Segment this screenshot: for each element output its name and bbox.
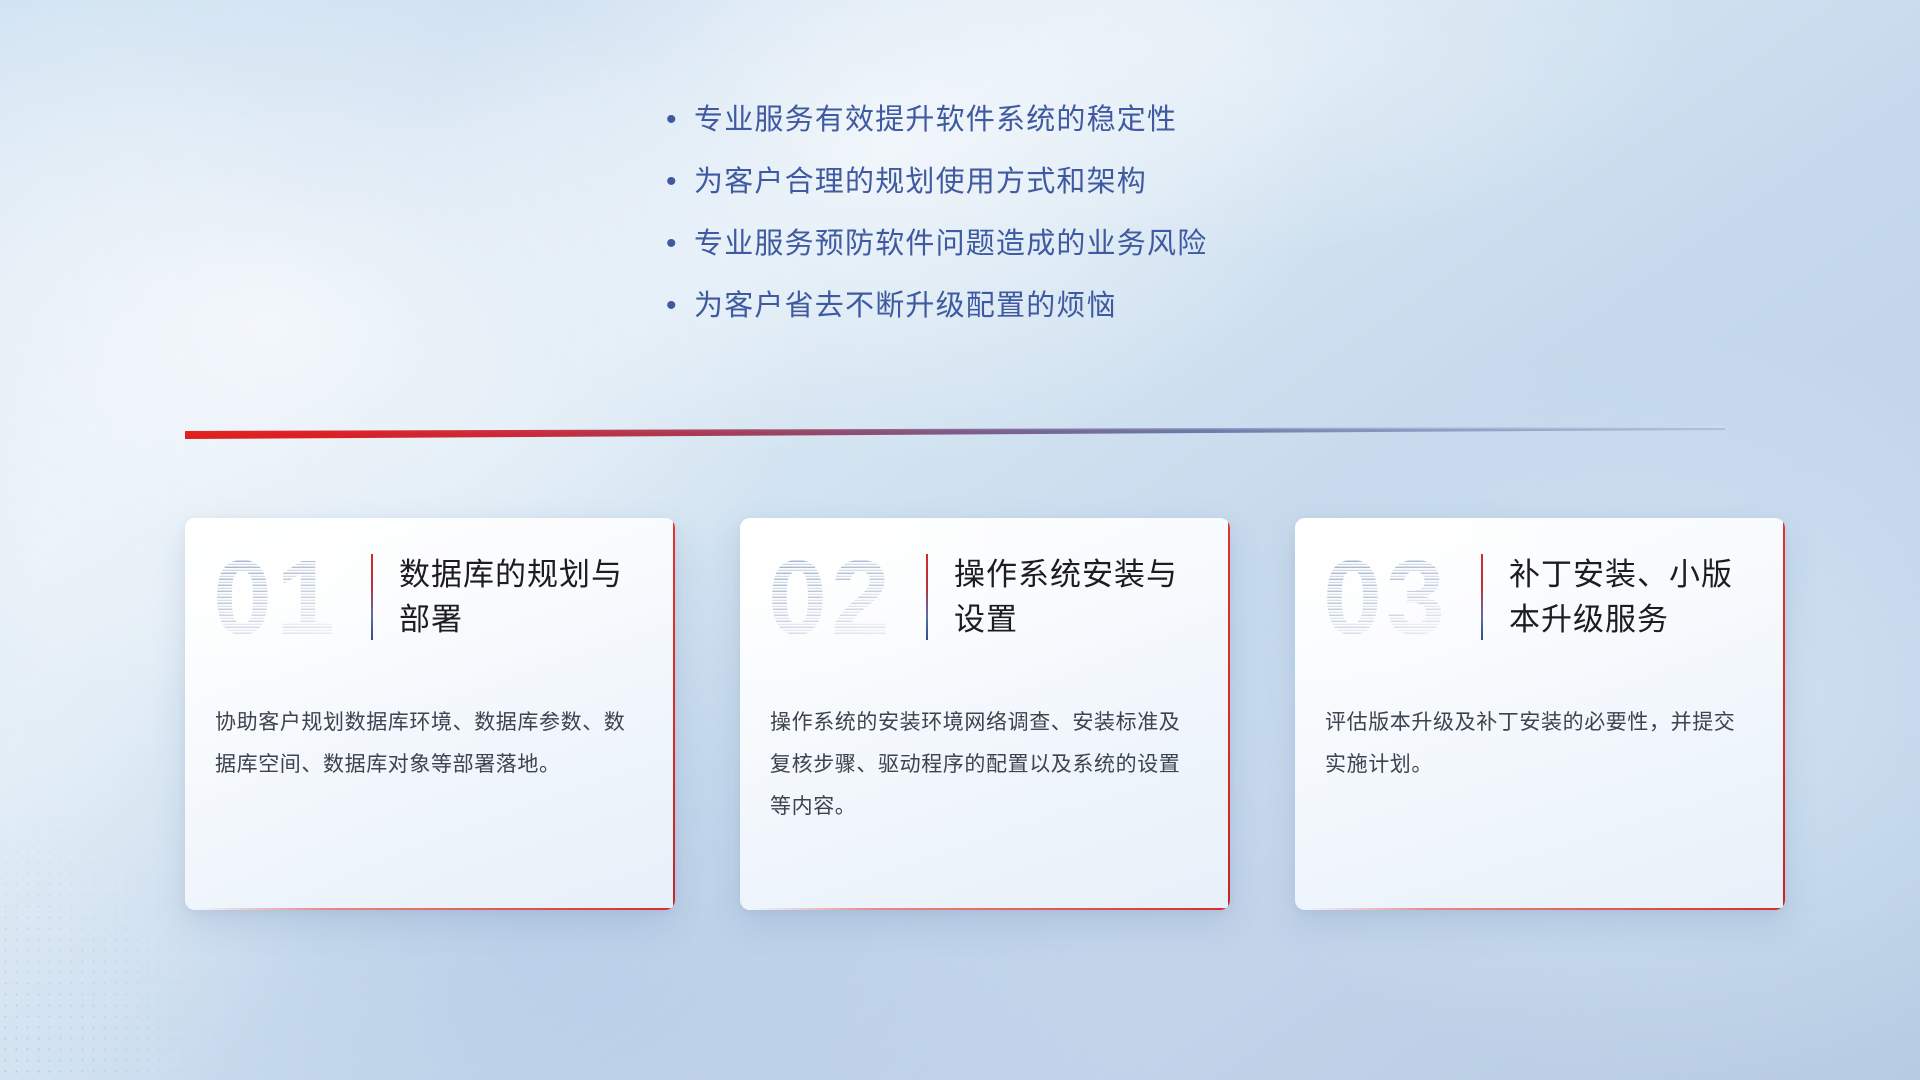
hatched-number-icon: 03 [1321,542,1471,652]
card-accent-divider [926,554,928,640]
bullet-dot-icon: • [660,286,694,326]
list-item: • 为客户合理的规划使用方式和架构 [660,162,1480,202]
hatched-number-icon: 02 [766,542,916,652]
bullet-text: 为客户省去不断升级配置的烦恼 [694,286,1117,326]
svg-text:02: 02 [768,542,894,652]
card-header: 03 补丁安装、小版本升级服务 [1295,518,1785,676]
svg-text:01: 01 [213,542,339,652]
card-number-01: 01 [211,542,361,652]
bullet-dot-icon: • [660,100,694,140]
card-header: 01 数据库的规划与部署 [185,518,675,676]
bullet-dot-icon: • [660,162,694,202]
feature-card-01[interactable]: 01 数据库的规划与部署 协助客户规划数据库环境、数据库参数、数据库空间、数据库… [185,518,675,910]
card-header: 02 操作系统安装与设置 [740,518,1230,676]
card-accent-divider [371,554,373,640]
card-number-02: 02 [766,542,916,652]
card-body-text: 协助客户规划数据库环境、数据库参数、数据库空间、数据库对象等部署落地。 [185,676,675,786]
section-divider-decoration [185,425,1725,445]
slide-canvas: • 专业服务有效提升软件系统的稳定性 • 为客户合理的规划使用方式和架构 • 专… [0,0,1920,1080]
bullet-dot-icon: • [660,224,694,264]
card-title: 补丁安装、小版本升级服务 [1509,552,1749,642]
card-accent-divider [1481,554,1483,640]
feature-card-02[interactable]: 02 操作系统安装与设置 操作系统的安装环境网络调查、安装标准及复核步骤、驱动程… [740,518,1230,910]
bullet-text: 专业服务有效提升软件系统的稳定性 [694,100,1177,140]
divider-wedge-icon [185,425,1725,445]
list-item: • 为客户省去不断升级配置的烦恼 [660,286,1480,326]
bullet-text: 专业服务预防软件问题造成的业务风险 [694,224,1207,264]
card-number-03: 03 [1321,542,1471,652]
card-body-text: 评估版本升级及补丁安装的必要性，并提交实施计划。 [1295,676,1785,786]
feature-card-list: 01 数据库的规划与部署 协助客户规划数据库环境、数据库参数、数据库空间、数据库… [185,518,1785,918]
feature-card-03[interactable]: 03 补丁安装、小版本升级服务 评估版本升级及补丁安装的必要性，并提交实施计划。 [1295,518,1785,910]
card-title: 数据库的规划与部署 [399,552,639,642]
list-item: • 专业服务预防软件问题造成的业务风险 [660,224,1480,264]
bullet-list: • 专业服务有效提升软件系统的稳定性 • 为客户合理的规划使用方式和架构 • 专… [660,100,1480,348]
hatched-number-icon: 01 [211,542,361,652]
svg-text:03: 03 [1323,542,1449,652]
card-body-text: 操作系统的安装环境网络调查、安装标准及复核步骤、驱动程序的配置以及系统的设置等内… [740,676,1230,828]
card-title: 操作系统安装与设置 [954,552,1194,642]
list-item: • 专业服务有效提升软件系统的稳定性 [660,100,1480,140]
bullet-text: 为客户合理的规划使用方式和架构 [694,162,1147,202]
